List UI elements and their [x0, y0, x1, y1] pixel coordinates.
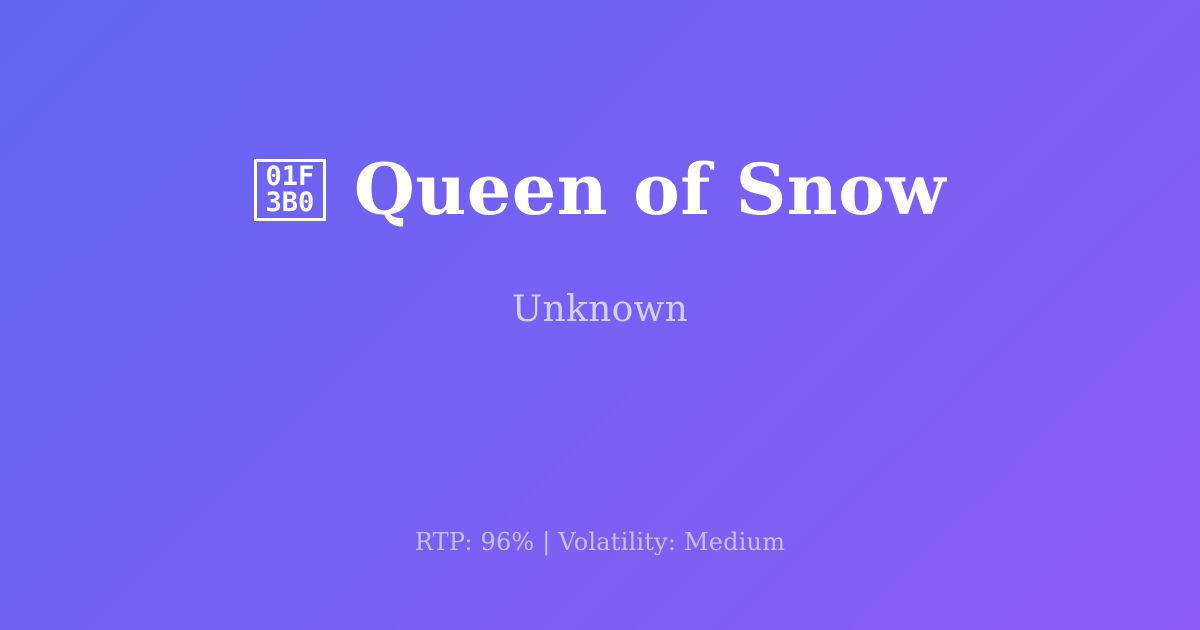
game-preview-card: 01F 3B0 Queen of Snow Unknown RTP: 96% |…: [0, 0, 1200, 630]
slot-machine-icon: 01F 3B0: [254, 159, 326, 221]
game-stats: RTP: 96% | Volatility: Medium: [0, 528, 1200, 556]
game-provider: Unknown: [512, 225, 688, 330]
title-row: 01F 3B0 Queen of Snow: [254, 155, 946, 225]
card-main-content: 01F 3B0 Queen of Snow Unknown: [0, 0, 1200, 470]
game-title: Queen of Snow: [354, 155, 946, 225]
card-footer: RTP: 96% | Volatility: Medium: [0, 528, 1200, 556]
codepoint-row-bottom: 3B0: [265, 190, 314, 216]
